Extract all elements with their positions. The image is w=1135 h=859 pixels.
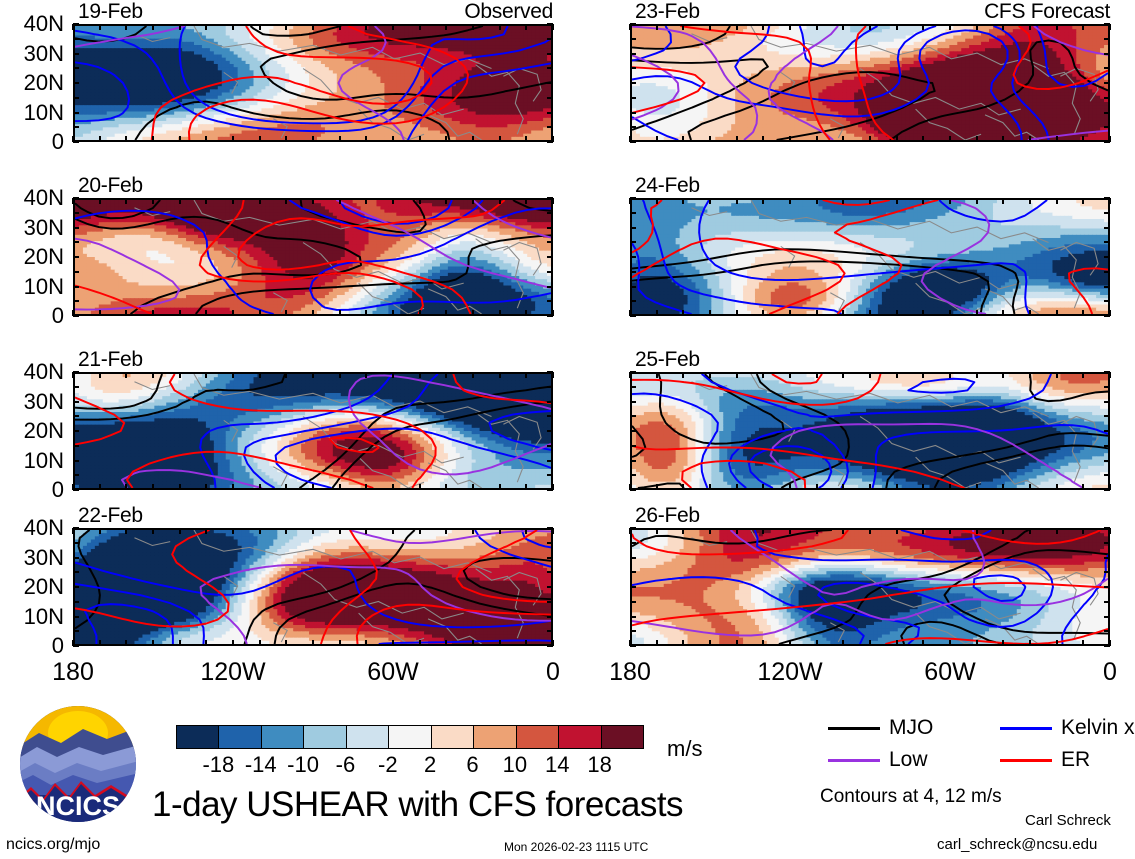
x-axis-tick (762, 198, 764, 204)
x-axis-tick (125, 136, 127, 142)
y-axis-tick (73, 126, 79, 128)
y-axis-tick (1104, 645, 1110, 647)
y-axis-tick (547, 645, 553, 647)
colorbar-segment (474, 726, 516, 748)
x-axis-tick (1002, 310, 1004, 316)
x-axis-tick (1002, 484, 1004, 490)
x-axis-tick (525, 24, 527, 30)
panel-date-label: 23-Feb (635, 0, 700, 24)
panel-date-label: 24-Feb (635, 174, 700, 198)
x-axis-tick (179, 24, 181, 30)
panel-date-label: 22-Feb (78, 504, 143, 528)
x-axis-tick (976, 528, 978, 534)
y-axis-tick (547, 286, 553, 288)
y-axis-tick (1104, 97, 1110, 99)
y-axis-tick (547, 371, 553, 373)
x-axis-tick (365, 198, 367, 204)
colorbar-tick-label: -2 (364, 752, 412, 778)
x-axis-tick (232, 528, 234, 534)
author-name: Carl Schreck (1025, 812, 1111, 829)
x-axis-tick (682, 528, 684, 534)
y-axis-tick (1104, 430, 1110, 432)
x-axis-tick (179, 528, 181, 534)
y-axis-tick (547, 197, 553, 199)
legend-item-er: ER (1000, 748, 1090, 772)
y-tick-label: 0 (2, 633, 64, 659)
y-axis-tick (630, 53, 636, 55)
x-axis-tick (762, 310, 764, 316)
y-axis-tick (73, 557, 79, 559)
x-axis-tick (472, 136, 474, 142)
y-axis-tick (547, 97, 553, 99)
x-axis-tick (179, 198, 181, 204)
x-axis-tick (152, 528, 154, 534)
y-axis-tick (73, 300, 79, 302)
y-axis-tick (547, 401, 553, 403)
x-axis-tick (99, 24, 101, 30)
x-axis-tick (816, 372, 818, 378)
y-axis-tick (73, 527, 79, 529)
y-axis-tick (630, 557, 636, 559)
x-axis-tick (976, 310, 978, 316)
legend-line-swatch (828, 727, 880, 730)
y-axis-tick (1104, 271, 1110, 273)
y-axis-tick (73, 430, 79, 432)
x-axis-tick (789, 528, 791, 534)
y-tick-label: 20N (2, 574, 64, 600)
colorbar-segment (517, 726, 559, 748)
x-axis-tick (285, 528, 287, 534)
y-axis-tick (73, 241, 79, 243)
x-axis-tick (445, 528, 447, 534)
y-axis-tick (73, 371, 79, 373)
x-axis-tick (682, 198, 684, 204)
x-axis-tick (1082, 198, 1084, 204)
x-axis-tick (762, 136, 764, 142)
x-axis-tick (365, 372, 367, 378)
y-axis-tick (73, 271, 79, 273)
x-axis-tick (1029, 528, 1031, 534)
y-axis-tick (73, 630, 79, 632)
x-axis-tick (312, 484, 314, 490)
y-axis-tick (73, 38, 79, 40)
x-axis-tick (472, 198, 474, 204)
y-axis-tick (73, 286, 79, 288)
x-axis-tick (312, 136, 314, 142)
y-axis-tick (630, 371, 636, 373)
x-axis-tick (922, 24, 924, 30)
x-axis-tick (922, 310, 924, 316)
y-axis-tick (1104, 489, 1110, 491)
x-axis-tick (896, 198, 898, 204)
x-axis-tick (392, 310, 394, 316)
x-axis-tick (736, 198, 738, 204)
colorbar (176, 725, 644, 749)
x-axis-tick (709, 24, 711, 30)
x-axis-tick (789, 640, 791, 646)
x-axis-tick (842, 528, 844, 534)
y-tick-label: 0 (2, 129, 64, 155)
x-axis-tick (499, 24, 501, 30)
x-axis-tick (152, 136, 154, 142)
y-axis-tick (73, 586, 79, 588)
x-axis-tick (365, 24, 367, 30)
x-axis-tick (125, 310, 127, 316)
y-axis-tick (73, 445, 79, 447)
x-axis-tick (152, 484, 154, 490)
x-axis-tick (445, 136, 447, 142)
x-axis-tick (339, 528, 341, 534)
y-axis-tick (630, 315, 636, 317)
y-axis-tick (73, 82, 79, 84)
y-axis-tick (547, 601, 553, 603)
x-axis-tick (1082, 372, 1084, 378)
x-axis-tick (1056, 198, 1058, 204)
x-axis-tick (499, 528, 501, 534)
x-axis-tick (419, 198, 421, 204)
y-axis-tick (630, 197, 636, 199)
x-axis-tick (365, 640, 367, 646)
x-axis-tick (656, 136, 658, 142)
x-axis-tick (816, 24, 818, 30)
legend-line-swatch (1000, 727, 1052, 730)
x-axis-tick (922, 136, 924, 142)
site-url-link[interactable]: ncics.org/mjo (6, 836, 100, 854)
x-axis-tick (1082, 310, 1084, 316)
y-axis-tick (547, 586, 553, 588)
x-axis-tick (1082, 528, 1084, 534)
y-axis-tick (1104, 67, 1110, 69)
x-axis-tick (896, 484, 898, 490)
x-axis-tick (816, 528, 818, 534)
x-axis-tick (896, 372, 898, 378)
y-tick-label: 10N (2, 448, 64, 474)
y-axis-tick (547, 557, 553, 559)
x-axis-tick (816, 310, 818, 316)
x-tick-label: 0 (546, 658, 560, 687)
x-axis-tick (869, 136, 871, 142)
y-axis-tick (547, 542, 553, 544)
x-axis-tick (259, 24, 261, 30)
y-axis-tick (73, 23, 79, 25)
x-axis-tick (365, 136, 367, 142)
x-axis-tick (339, 640, 341, 646)
x-tick-label: 180 (609, 658, 651, 687)
y-axis-tick (73, 256, 79, 258)
x-axis-tick (472, 24, 474, 30)
legend-item-kelvin-x2: Kelvin x2 (1000, 716, 1135, 740)
y-axis-tick (630, 445, 636, 447)
y-axis-tick (547, 527, 553, 529)
y-axis-tick (73, 489, 79, 491)
x-axis-tick (736, 528, 738, 534)
map-panel (73, 528, 553, 646)
x-axis-tick (682, 24, 684, 30)
map-panel (630, 24, 1110, 142)
y-axis-tick (1104, 300, 1110, 302)
y-axis-tick (630, 571, 636, 573)
x-axis-tick (1002, 528, 1004, 534)
y-axis-tick (630, 300, 636, 302)
x-axis-tick (896, 24, 898, 30)
x-axis-tick (762, 640, 764, 646)
x-axis-tick (976, 198, 978, 204)
x-axis-tick (789, 372, 791, 378)
x-axis-tick (339, 24, 341, 30)
y-axis-tick (73, 601, 79, 603)
y-axis-tick (547, 300, 553, 302)
colorbar-segment (432, 726, 474, 748)
x-axis-tick (419, 640, 421, 646)
x-axis-tick (1056, 136, 1058, 142)
y-axis-tick (630, 23, 636, 25)
x-axis-tick (976, 136, 978, 142)
x-axis-tick (312, 198, 314, 204)
x-axis-tick (869, 372, 871, 378)
legend-label: MJO (889, 716, 933, 740)
x-axis-tick (419, 310, 421, 316)
x-axis-tick (392, 136, 394, 142)
y-tick-label: 20N (2, 70, 64, 96)
y-axis-tick (547, 630, 553, 632)
x-axis-tick (259, 136, 261, 142)
y-axis-tick (547, 474, 553, 476)
x-axis-tick (285, 136, 287, 142)
x-axis-tick (179, 484, 181, 490)
x-axis-tick (99, 640, 101, 646)
x-axis-tick (922, 484, 924, 490)
x-tick-label: 180 (52, 658, 94, 687)
y-axis-tick (630, 241, 636, 243)
shaded-field (632, 200, 1108, 314)
x-axis-tick (205, 24, 207, 30)
x-axis-tick (1056, 484, 1058, 490)
y-tick-label: 10N (2, 274, 64, 300)
x-axis-tick (205, 198, 207, 204)
x-axis-tick (419, 528, 421, 534)
x-axis-tick (205, 528, 207, 534)
x-axis-tick (976, 372, 978, 378)
panel-date-label: 26-Feb (635, 504, 700, 528)
x-axis-tick (896, 136, 898, 142)
y-axis-tick (547, 430, 553, 432)
y-axis-tick (630, 286, 636, 288)
x-axis-tick (445, 640, 447, 646)
x-axis-tick (656, 372, 658, 378)
map-panel (630, 198, 1110, 316)
x-axis-tick (949, 310, 951, 316)
colorbar-tick-label: 18 (576, 752, 624, 778)
x-tick-label: 120W (200, 658, 265, 687)
panel-date-label: 20-Feb (78, 174, 143, 198)
x-axis-tick (445, 372, 447, 378)
x-axis-tick (205, 310, 207, 316)
x-axis-tick (205, 640, 207, 646)
x-axis-tick (392, 640, 394, 646)
ncics-logo: NCICS (17, 703, 139, 825)
y-tick-label: 20N (2, 244, 64, 270)
x-axis-tick (736, 310, 738, 316)
y-axis-tick (547, 227, 553, 229)
y-axis-tick (1104, 241, 1110, 243)
y-axis-tick (1104, 601, 1110, 603)
y-axis-tick (1104, 38, 1110, 40)
map-panel (630, 528, 1110, 646)
column-header-observed: Observed (464, 0, 553, 24)
y-axis-tick (73, 460, 79, 462)
x-axis-tick (152, 24, 154, 30)
panel-date-label: 19-Feb (78, 0, 143, 24)
y-axis-tick (1104, 212, 1110, 214)
legend-label: ER (1061, 748, 1090, 772)
y-axis-tick (1104, 371, 1110, 373)
x-axis-tick (285, 310, 287, 316)
y-tick-label: 10N (2, 604, 64, 630)
column-header-forecast: CFS Forecast (984, 0, 1110, 24)
x-axis-tick (232, 198, 234, 204)
x-axis-tick (842, 24, 844, 30)
x-axis-tick (419, 24, 421, 30)
y-axis-tick (1104, 401, 1110, 403)
y-axis-tick (73, 645, 79, 647)
x-axis-tick (1056, 24, 1058, 30)
y-axis-tick (630, 227, 636, 229)
y-axis-tick (630, 38, 636, 40)
x-axis-tick (1029, 310, 1031, 316)
x-axis-tick (232, 484, 234, 490)
x-axis-tick (896, 640, 898, 646)
x-axis-tick (392, 24, 394, 30)
y-tick-label: 40N (2, 515, 64, 541)
x-axis-tick (152, 640, 154, 646)
x-axis-tick (392, 372, 394, 378)
y-tick-label: 10N (2, 100, 64, 126)
x-axis-tick (816, 484, 818, 490)
y-axis-tick (630, 527, 636, 529)
colorbar-units-label: m/s (667, 736, 702, 762)
y-axis-tick (630, 542, 636, 544)
y-axis-tick (630, 616, 636, 618)
x-axis-tick (445, 484, 447, 490)
y-axis-tick (630, 586, 636, 588)
y-axis-tick (73, 141, 79, 143)
y-axis-tick (73, 616, 79, 618)
y-axis-tick (630, 489, 636, 491)
map-panel (73, 372, 553, 490)
x-axis-tick (205, 136, 207, 142)
x-axis-tick (789, 136, 791, 142)
x-axis-tick (709, 310, 711, 316)
y-axis-tick (547, 460, 553, 462)
y-axis-tick (1104, 53, 1110, 55)
x-axis-tick (285, 372, 287, 378)
x-axis-tick (392, 198, 394, 204)
y-tick-label: 30N (2, 41, 64, 67)
x-axis-tick (365, 310, 367, 316)
x-axis-tick (232, 24, 234, 30)
x-axis-tick (499, 310, 501, 316)
y-axis-tick (630, 141, 636, 143)
y-axis-tick (630, 645, 636, 647)
y-axis-tick (630, 460, 636, 462)
x-axis-tick (285, 484, 287, 490)
x-axis-tick (1082, 640, 1084, 646)
x-axis-tick (736, 372, 738, 378)
x-axis-tick (259, 640, 261, 646)
y-axis-tick (547, 571, 553, 573)
y-axis-tick (547, 616, 553, 618)
x-axis-tick (99, 528, 101, 534)
x-axis-tick (232, 640, 234, 646)
x-axis-tick (656, 484, 658, 490)
x-axis-tick (339, 484, 341, 490)
y-axis-tick (630, 67, 636, 69)
x-axis-tick (1056, 640, 1058, 646)
x-axis-tick (312, 310, 314, 316)
colorbar-segment (219, 726, 261, 748)
x-axis-tick (682, 484, 684, 490)
y-axis-tick (630, 256, 636, 258)
x-axis-tick (1002, 198, 1004, 204)
x-axis-tick (232, 310, 234, 316)
panel-date-label: 21-Feb (78, 348, 143, 372)
x-axis-tick (205, 484, 207, 490)
x-axis-tick (259, 310, 261, 316)
y-axis-tick (73, 474, 79, 476)
x-axis-tick (285, 24, 287, 30)
x-axis-tick (152, 198, 154, 204)
x-axis-tick (365, 528, 367, 534)
y-axis-tick (73, 386, 79, 388)
x-axis-tick (789, 484, 791, 490)
legend-item-low: Low (828, 748, 928, 772)
x-axis-tick (499, 136, 501, 142)
colorbar-segment (389, 726, 431, 748)
x-axis-tick (816, 198, 818, 204)
x-axis-tick (949, 198, 951, 204)
x-axis-tick (445, 24, 447, 30)
x-axis-tick (525, 136, 527, 142)
x-tick-label: 60W (924, 658, 975, 687)
x-axis-tick (1029, 640, 1031, 646)
x-axis-tick (1002, 372, 1004, 378)
colorbar-tick-label: 2 (406, 752, 454, 778)
y-axis-tick (630, 112, 636, 114)
x-axis-tick (472, 640, 474, 646)
x-axis-tick (125, 640, 127, 646)
x-axis-tick (339, 136, 341, 142)
y-axis-tick (547, 126, 553, 128)
x-axis-tick (656, 640, 658, 646)
x-axis-tick (762, 484, 764, 490)
x-axis-tick (709, 372, 711, 378)
author-email[interactable]: carl_schreck@ncsu.edu (937, 836, 1097, 853)
y-tick-label: 30N (2, 215, 64, 241)
colorbar-segment (262, 726, 304, 748)
y-axis-tick (1104, 315, 1110, 317)
x-axis-tick (709, 198, 711, 204)
y-axis-tick (630, 474, 636, 476)
x-axis-tick (656, 24, 658, 30)
y-tick-label: 30N (2, 545, 64, 571)
x-axis-tick (922, 528, 924, 534)
y-tick-label: 0 (2, 477, 64, 503)
x-axis-tick (99, 484, 101, 490)
y-axis-tick (1104, 542, 1110, 544)
y-axis-tick (630, 630, 636, 632)
x-axis-tick (1082, 136, 1084, 142)
y-axis-tick (1104, 126, 1110, 128)
